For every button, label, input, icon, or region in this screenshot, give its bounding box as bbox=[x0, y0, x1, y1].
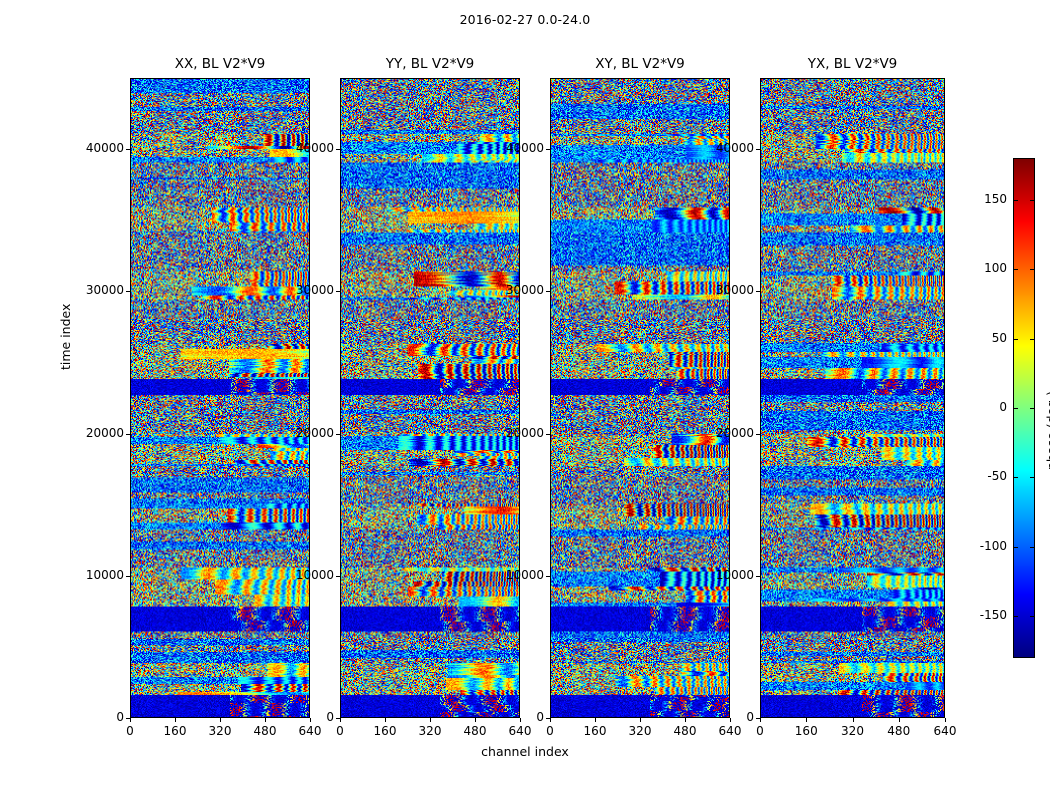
x-tick-mark bbox=[806, 718, 807, 722]
y-tick-label: 40000 bbox=[480, 141, 544, 155]
x-tick-mark bbox=[899, 718, 900, 722]
y-tick-label: 0 bbox=[480, 710, 544, 724]
x-tick-mark bbox=[265, 718, 266, 722]
x-tick-mark bbox=[685, 718, 686, 722]
colorbar-tick-label: 0 bbox=[955, 400, 1007, 414]
y-tick-mark bbox=[546, 149, 550, 150]
colorbar-tick-mark bbox=[1013, 269, 1018, 270]
y-tick-label: 20000 bbox=[480, 426, 544, 440]
y-tick-mark bbox=[126, 149, 130, 150]
x-tick-mark bbox=[550, 718, 551, 722]
y-tick-mark bbox=[126, 434, 130, 435]
heatmap-panel-yy[interactable] bbox=[340, 78, 520, 718]
figure-suptitle: 2016-02-27 0.0-24.0 bbox=[0, 12, 1050, 27]
y-tick-mark bbox=[126, 576, 130, 577]
y-tick-mark bbox=[546, 576, 550, 577]
colorbar-tick-mark bbox=[1030, 616, 1035, 617]
x-axis-label: channel index bbox=[0, 744, 1050, 759]
colorbar-label: phase (deg.) bbox=[1044, 391, 1050, 470]
panel-title-xy: XY, BL V2*V9 bbox=[550, 56, 730, 74]
y-tick-mark bbox=[756, 434, 760, 435]
x-tick-mark bbox=[385, 718, 386, 722]
y-tick-label: 40000 bbox=[60, 141, 124, 155]
x-tick-mark bbox=[310, 718, 311, 722]
heatmap-panel-xy[interactable] bbox=[550, 78, 730, 718]
x-tick-mark bbox=[853, 718, 854, 722]
colorbar-tick-mark bbox=[1013, 408, 1018, 409]
y-tick-label: 30000 bbox=[690, 283, 754, 297]
y-tick-mark bbox=[756, 291, 760, 292]
y-tick-mark bbox=[546, 291, 550, 292]
heatmap-panel-yx[interactable] bbox=[760, 78, 945, 718]
colorbar-tick-label: -100 bbox=[955, 539, 1007, 553]
colorbar-tick-label: 100 bbox=[955, 261, 1007, 275]
y-tick-mark bbox=[126, 291, 130, 292]
y-tick-label: 30000 bbox=[270, 283, 334, 297]
y-tick-label: 20000 bbox=[270, 426, 334, 440]
y-tick-label: 0 bbox=[270, 710, 334, 724]
y-tick-label: 30000 bbox=[60, 283, 124, 297]
y-tick-label: 20000 bbox=[60, 426, 124, 440]
y-tick-label: 10000 bbox=[690, 568, 754, 582]
colorbar-tick-label: -50 bbox=[955, 469, 1007, 483]
y-tick-mark bbox=[756, 149, 760, 150]
heatmap-image-xy bbox=[551, 79, 729, 717]
colorbar-tick-mark bbox=[1013, 339, 1018, 340]
x-tick-mark bbox=[520, 718, 521, 722]
heatmap-image-yy bbox=[341, 79, 519, 717]
y-tick-mark bbox=[336, 576, 340, 577]
x-tick-mark bbox=[595, 718, 596, 722]
y-tick-label: 40000 bbox=[270, 141, 334, 155]
colorbar-tick-mark bbox=[1013, 477, 1018, 478]
heatmap-image-yx bbox=[761, 79, 944, 717]
x-tick-mark bbox=[945, 718, 946, 722]
y-tick-mark bbox=[336, 149, 340, 150]
x-tick-mark bbox=[130, 718, 131, 722]
colorbar-tick-mark bbox=[1030, 408, 1035, 409]
y-tick-label: 0 bbox=[60, 710, 124, 724]
x-tick-label: 640 bbox=[915, 724, 975, 738]
x-tick-mark bbox=[220, 718, 221, 722]
y-tick-mark bbox=[756, 576, 760, 577]
colorbar-tick-label: 150 bbox=[955, 192, 1007, 206]
x-tick-mark bbox=[430, 718, 431, 722]
colorbar-tick-mark bbox=[1030, 477, 1035, 478]
y-tick-label: 30000 bbox=[480, 283, 544, 297]
y-axis-label: time index bbox=[58, 304, 73, 370]
colorbar-tick-mark bbox=[1013, 200, 1018, 201]
heatmap-panel-xx[interactable] bbox=[130, 78, 310, 718]
colorbar-tick-mark bbox=[1013, 616, 1018, 617]
colorbar-tick-mark bbox=[1030, 200, 1035, 201]
x-tick-mark bbox=[640, 718, 641, 722]
y-tick-label: 10000 bbox=[480, 568, 544, 582]
y-tick-label: 0 bbox=[690, 710, 754, 724]
y-tick-mark bbox=[546, 434, 550, 435]
panel-title-yx: YX, BL V2*V9 bbox=[760, 56, 945, 74]
x-tick-mark bbox=[340, 718, 341, 722]
colorbar-tick-label: -150 bbox=[955, 608, 1007, 622]
colorbar-tick-label: 50 bbox=[955, 331, 1007, 345]
x-tick-mark bbox=[760, 718, 761, 722]
y-tick-label: 10000 bbox=[270, 568, 334, 582]
heatmap-image-xx bbox=[131, 79, 309, 717]
y-tick-mark bbox=[336, 291, 340, 292]
y-tick-label: 40000 bbox=[690, 141, 754, 155]
colorbar-tick-mark bbox=[1030, 339, 1035, 340]
x-tick-mark bbox=[730, 718, 731, 722]
y-tick-label: 20000 bbox=[690, 426, 754, 440]
y-tick-mark bbox=[336, 434, 340, 435]
panel-title-yy: YY, BL V2*V9 bbox=[340, 56, 520, 74]
colorbar-tick-mark bbox=[1030, 269, 1035, 270]
x-tick-mark bbox=[475, 718, 476, 722]
panel-title-xx: XX, BL V2*V9 bbox=[130, 56, 310, 74]
colorbar-tick-mark bbox=[1013, 547, 1018, 548]
y-tick-label: 10000 bbox=[60, 568, 124, 582]
figure-canvas: 2016-02-27 0.0-24.0 XX, BL V2*V9 YY, BL … bbox=[0, 0, 1050, 800]
colorbar-tick-mark bbox=[1030, 547, 1035, 548]
x-tick-mark bbox=[175, 718, 176, 722]
